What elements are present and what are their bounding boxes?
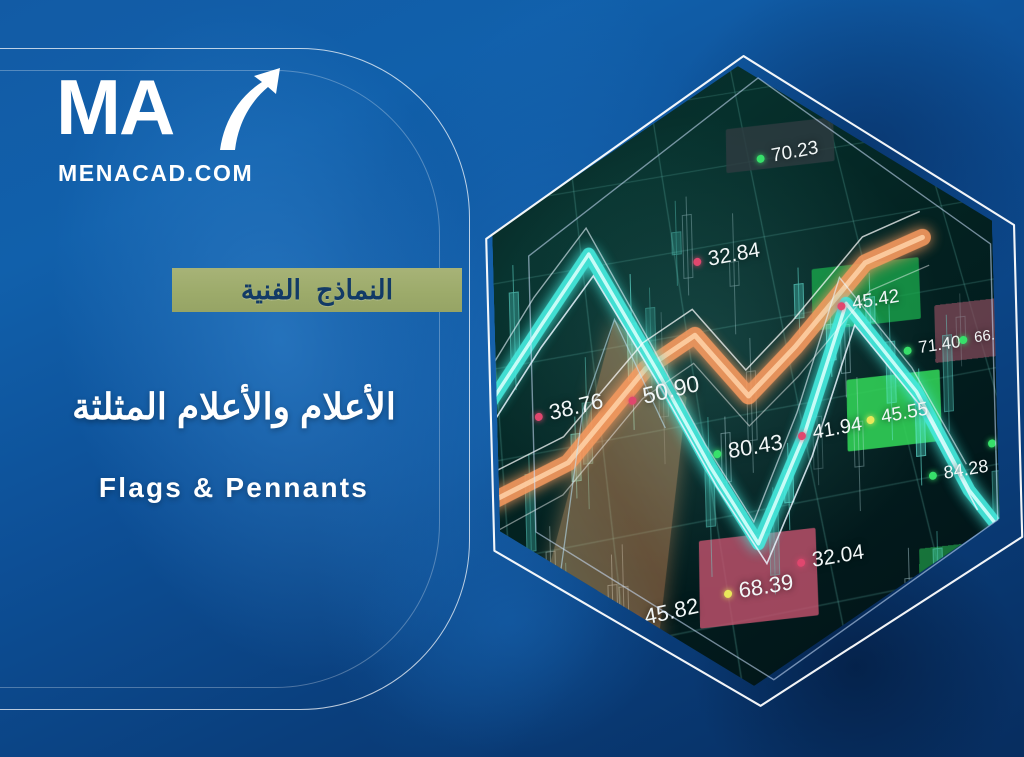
upward-arrow-icon bbox=[206, 62, 286, 154]
poster-canvas: MA MENACAD.COM النماذج الفنية الأعلام وا… bbox=[0, 0, 1024, 757]
logo-mark: MA bbox=[56, 72, 271, 148]
hexagon-outline bbox=[470, 44, 1024, 714]
page-title-arabic: الأعلام والأعلام المثلثة bbox=[0, 386, 468, 428]
logo-wordmark: MA bbox=[56, 68, 173, 146]
page-title-english: Flags & Pennants bbox=[0, 472, 468, 504]
hero-hexagon: 70.2332.8445.4271.4066.1038.7650.9045.55… bbox=[470, 44, 1024, 714]
brand-logo[interactable]: MA MENACAD.COM bbox=[56, 72, 306, 192]
logo-url-text: MENACAD.COM bbox=[58, 160, 253, 187]
category-badge-label: النماذج الفنية bbox=[241, 275, 393, 306]
category-badge: النماذج الفنية bbox=[172, 268, 462, 312]
